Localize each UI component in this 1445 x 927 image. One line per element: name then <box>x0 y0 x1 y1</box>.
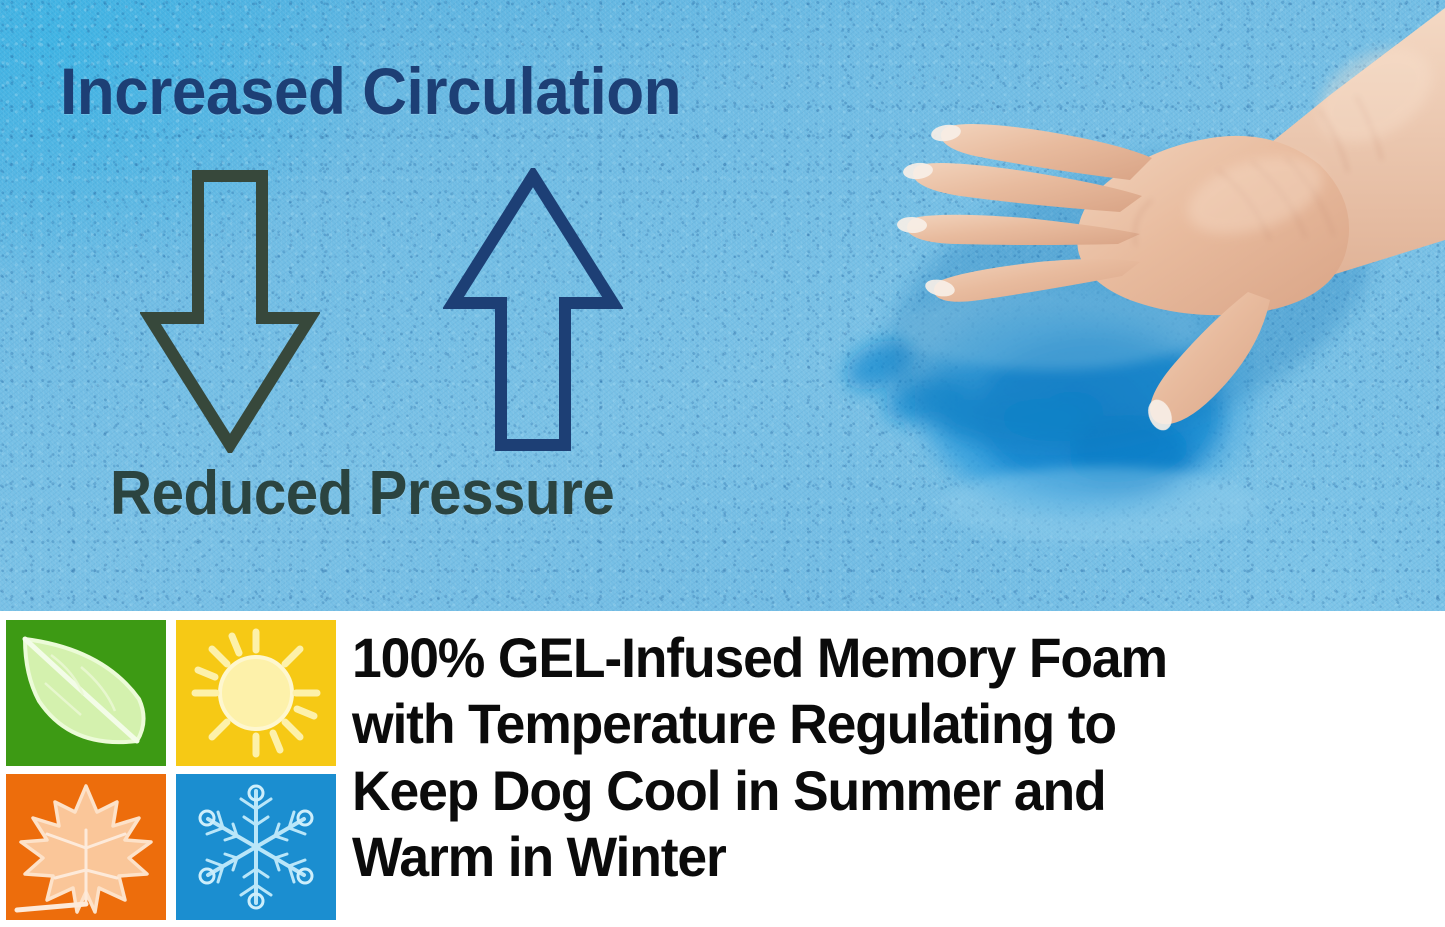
hand-and-imprint-svg <box>800 0 1445 611</box>
arrow-down-svg <box>140 168 320 453</box>
arrow-up-svg <box>443 168 623 453</box>
tile-spring <box>6 620 166 766</box>
leaf-icon <box>11 625 161 761</box>
blurb-line-2: with Temperature Regulating to <box>352 691 1393 757</box>
product-poster: Increased Circulation Reduced Pressure <box>0 0 1445 927</box>
caption-increased-circulation: Increased Circulation <box>60 58 681 124</box>
tile-autumn <box>6 774 166 920</box>
tile-summer <box>176 620 336 766</box>
blurb-line-3: Keep Dog Cool in Summer and <box>352 758 1393 824</box>
maple-leaf-icon <box>11 778 161 916</box>
arrow-down-icon <box>140 168 320 458</box>
hand-pressing-foam-illustration <box>800 0 1445 611</box>
caption-reduced-pressure: Reduced Pressure <box>110 463 614 525</box>
arrow-up-icon <box>443 168 623 458</box>
product-blurb: 100% GEL-Infused Memory Foam with Temper… <box>352 625 1393 890</box>
season-tile-grid <box>6 620 336 920</box>
snowflake-icon <box>185 779 327 915</box>
footer-panel: 100% GEL-Infused Memory Foam with Temper… <box>0 611 1445 927</box>
memory-foam-photo: Increased Circulation Reduced Pressure <box>0 0 1445 611</box>
tile-winter <box>176 774 336 920</box>
sun-icon <box>186 626 326 760</box>
blurb-line-1: 100% GEL-Infused Memory Foam <box>352 625 1393 691</box>
blurb-line-4: Warm in Winter <box>352 824 1393 890</box>
